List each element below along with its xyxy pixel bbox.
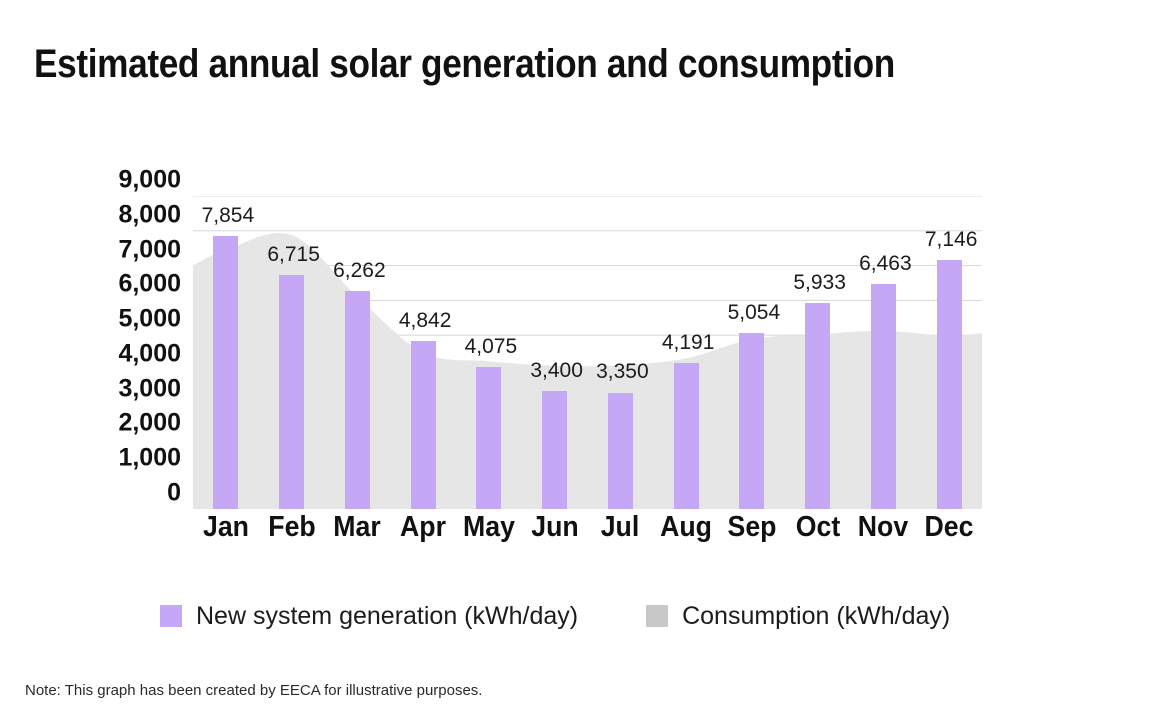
- x-axis-tick-oct: Oct: [795, 512, 839, 544]
- y-axis-tick-label: 2,000: [93, 411, 181, 436]
- x-axis-tick-jul: Jul: [601, 512, 640, 544]
- bar-value-label: 7,854: [202, 205, 255, 226]
- bar-oct[interactable]: [805, 303, 830, 509]
- y-axis-tick-label: 3,000: [93, 376, 181, 401]
- legend-item-generation[interactable]: New system generation (kWh/day): [160, 604, 578, 629]
- x-axis-tick-feb: Feb: [268, 512, 315, 544]
- legend-swatch-consumption-icon: [646, 605, 668, 627]
- bar-value-label: 4,191: [662, 332, 715, 353]
- legend-label-consumption: Consumption (kWh/day): [682, 604, 950, 629]
- y-axis: 01,0002,0003,0004,0005,0006,0007,0008,00…: [93, 180, 181, 510]
- x-axis-tick-dec: Dec: [925, 512, 974, 544]
- chart-figure: Estimated annual solar generation and co…: [0, 0, 1160, 725]
- chart-footnote: Note: This graph has been created by EEC…: [25, 682, 482, 699]
- x-axis-tick-jun: Jun: [531, 512, 578, 544]
- bar-value-label: 4,842: [399, 310, 452, 331]
- chart-legend: New system generation (kWh/day) Consumpt…: [160, 598, 1020, 634]
- bar-value-label: 3,350: [596, 361, 649, 382]
- page-title: Estimated annual solar generation and co…: [34, 42, 895, 86]
- bar-value-label: 7,146: [925, 229, 978, 250]
- y-axis-tick-label: 4,000: [93, 341, 181, 366]
- x-axis-tick-mar: Mar: [334, 512, 381, 544]
- bar-dec[interactable]: [937, 260, 962, 509]
- bar-sep[interactable]: [739, 333, 764, 509]
- bar-jun[interactable]: [542, 391, 567, 509]
- x-axis-tick-apr: Apr: [400, 512, 446, 544]
- bar-feb[interactable]: [279, 275, 304, 509]
- x-axis-tick-nov: Nov: [858, 512, 908, 544]
- bar-jan[interactable]: [213, 236, 238, 509]
- legend-swatch-generation-icon: [160, 605, 182, 627]
- bar-mar[interactable]: [345, 291, 370, 509]
- y-axis-tick-label: 0: [93, 481, 181, 506]
- y-axis-tick-label: 9,000: [93, 168, 181, 193]
- bar-may[interactable]: [476, 367, 501, 509]
- y-axis-tick-label: 6,000: [93, 272, 181, 297]
- legend-item-consumption[interactable]: Consumption (kWh/day): [646, 604, 950, 629]
- legend-label-generation: New system generation (kWh/day): [196, 604, 578, 629]
- bar-apr[interactable]: [411, 341, 436, 509]
- bar-value-label: 4,075: [465, 336, 518, 357]
- y-axis-tick-label: 1,000: [93, 446, 181, 471]
- x-axis: JanFebMarAprMayJunJulAugSepOctNovDec: [193, 512, 982, 552]
- generation-bars: 7,8546,7156,2624,8424,0753,4003,3504,191…: [193, 196, 982, 509]
- x-axis-tick-jan: Jan: [203, 512, 249, 544]
- y-axis-tick-label: 7,000: [93, 237, 181, 262]
- bar-value-label: 5,054: [728, 302, 781, 323]
- bar-value-label: 3,400: [530, 360, 583, 381]
- y-axis-tick-label: 8,000: [93, 202, 181, 227]
- bar-aug[interactable]: [674, 363, 699, 509]
- y-axis-tick-label: 5,000: [93, 307, 181, 332]
- x-axis-tick-may: May: [463, 512, 515, 544]
- bar-jul[interactable]: [608, 393, 633, 510]
- x-axis-tick-sep: Sep: [727, 512, 776, 544]
- plot-area: 7,8546,7156,2624,8424,0753,4003,3504,191…: [193, 196, 982, 509]
- bar-value-label: 6,463: [859, 253, 912, 274]
- bar-nov[interactable]: [871, 284, 896, 509]
- bar-value-label: 6,262: [333, 260, 386, 281]
- x-axis-tick-aug: Aug: [660, 512, 712, 544]
- bar-value-label: 5,933: [793, 272, 846, 293]
- bar-value-label: 6,715: [267, 244, 320, 265]
